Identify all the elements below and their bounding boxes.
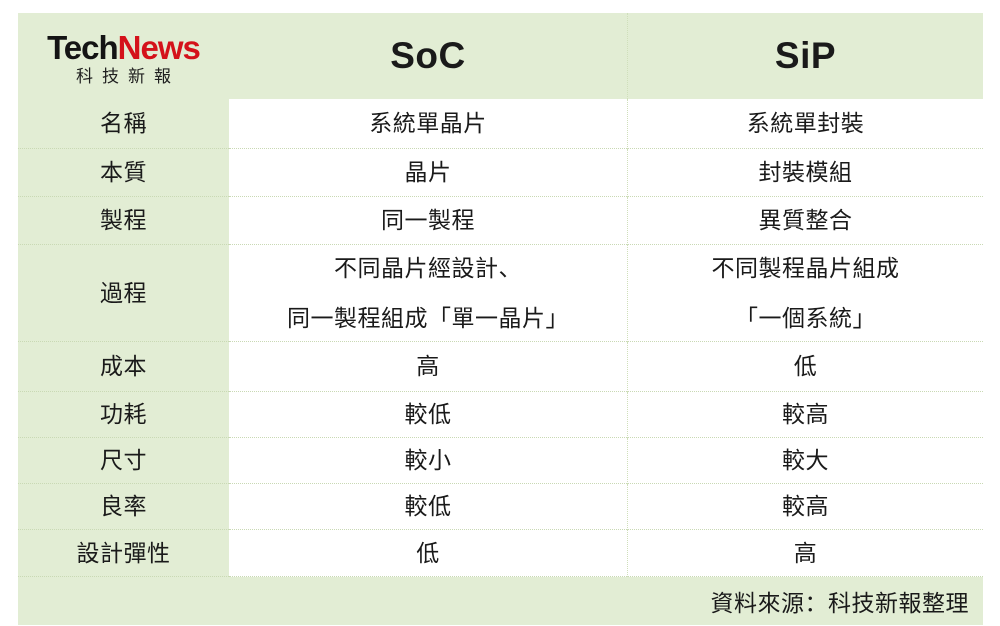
table-footer: 資料來源：科技新報整理	[18, 577, 983, 625]
cell-soc-name: 系統單晶片	[229, 99, 627, 149]
cell-sip-procedure: 不同製程晶片組成 「一個系統」	[627, 245, 983, 342]
cell-sip-essence: 封裝模組	[627, 149, 983, 197]
cell-soc-cost: 高	[229, 342, 627, 392]
cell-sip-procedure-line-1: 不同製程晶片組成	[712, 252, 900, 285]
row-label-process: 製程	[18, 197, 229, 245]
logo-word-accent: News	[118, 29, 200, 66]
cell-sip-design-flexibility: 高	[627, 530, 983, 577]
cell-sip-process: 異質整合	[627, 197, 983, 245]
cell-sip-name: 系統單封裝	[627, 99, 983, 149]
cell-sip-cost: 低	[627, 342, 983, 392]
row-label-procedure: 過程	[18, 245, 229, 342]
cell-sip-yield: 較高	[627, 484, 983, 530]
row-label-design-flexibility: 設計彈性	[18, 530, 229, 577]
column-header-soc: SoC	[229, 13, 627, 99]
cell-sip-size: 較大	[627, 438, 983, 484]
cell-soc-power: 較低	[229, 392, 627, 438]
cell-soc-procedure-line-1: 不同晶片經設計、	[334, 252, 522, 285]
cell-soc-essence: 晶片	[229, 149, 627, 197]
cell-soc-yield: 較低	[229, 484, 627, 530]
row-label-cost: 成本	[18, 342, 229, 392]
logo-wordmark: TechNews	[47, 31, 200, 64]
row-label-name: 名稱	[18, 99, 229, 149]
brand-logo: TechNews 科技新報	[18, 13, 229, 99]
cell-soc-design-flexibility: 低	[229, 530, 627, 577]
source-note: 資料來源：科技新報整理	[711, 584, 970, 618]
cell-soc-procedure-line-2: 同一製程組成「單一晶片」	[287, 302, 569, 335]
column-header-sip: SiP	[627, 13, 983, 99]
cell-sip-procedure-line-2: 「一個系統」	[735, 302, 876, 335]
logo-subtitle: 科技新報	[67, 68, 180, 85]
cell-soc-size: 較小	[229, 438, 627, 484]
row-label-essence: 本質	[18, 149, 229, 197]
comparison-table-canvas: TechNews 科技新報 SoC SiP 名稱 系統單晶片 系統單封裝 本質 …	[0, 0, 1000, 626]
table-grid: TechNews 科技新報 SoC SiP 名稱 系統單晶片 系統單封裝 本質 …	[18, 13, 983, 601]
row-label-size: 尺寸	[18, 438, 229, 484]
cell-soc-procedure: 不同晶片經設計、 同一製程組成「單一晶片」	[229, 245, 627, 342]
row-label-power: 功耗	[18, 392, 229, 438]
row-label-yield: 良率	[18, 484, 229, 530]
cell-soc-process: 同一製程	[229, 197, 627, 245]
logo-word-primary: Tech	[47, 29, 118, 66]
cell-sip-power: 較高	[627, 392, 983, 438]
comparison-table: TechNews 科技新報 SoC SiP 名稱 系統單晶片 系統單封裝 本質 …	[18, 13, 983, 601]
